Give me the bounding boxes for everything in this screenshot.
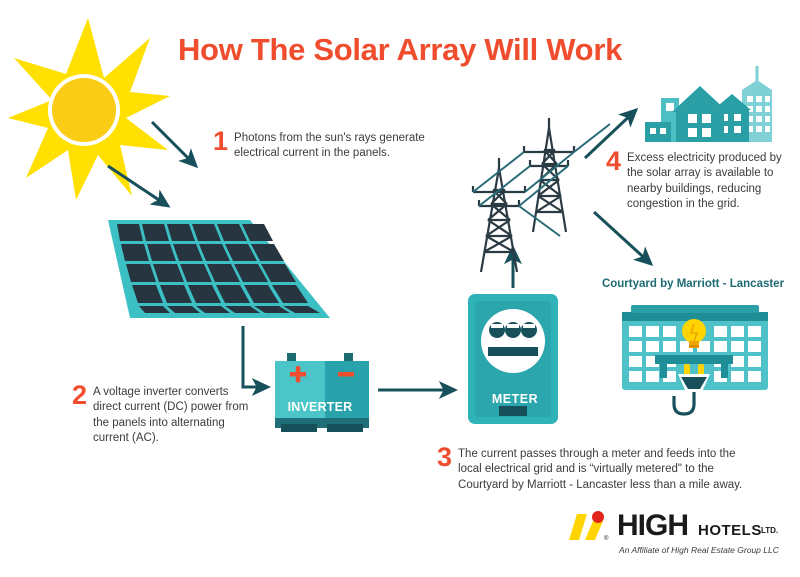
step-1-text: Photons from the sun's rays generate ele…: [234, 131, 428, 162]
arrow-sun-to-panel-2: [108, 166, 168, 206]
solar-panel-icon: [108, 220, 330, 318]
hotel-building-lightbulb-icon: [622, 305, 768, 414]
arrow-grid-to-hotel: [594, 212, 651, 264]
arrow-panel-to-inverter: [243, 326, 268, 387]
transmission-tower-icon: [473, 118, 610, 272]
infographic-canvas: How The Solar Array Will Work: [0, 0, 800, 577]
step-4-number: 4: [606, 148, 621, 175]
step-2-text: A voltage inverter converts direct curre…: [93, 385, 252, 446]
logo-ltd-text: LTD.: [761, 527, 778, 535]
meter-label: METER: [473, 392, 557, 406]
step-1: 1 Photons from the sun's rays generate e…: [213, 131, 428, 162]
step-4: 4 Excess electricity produced by the sol…: [606, 151, 786, 212]
high-hotels-logo-mark: ®: [565, 510, 615, 544]
inverter-label: INVERTER: [270, 400, 370, 414]
high-hotels-logo: ® HIGH HOTELS LTD. An Affiliate of High …: [565, 509, 785, 561]
city-buildings-icon: [645, 66, 772, 142]
sun-icon: [8, 18, 170, 200]
step-3-number: 3: [437, 444, 452, 471]
step-2: 2 A voltage inverter converts direct cur…: [72, 385, 252, 446]
step-4-text: Excess electricity produced by the solar…: [627, 151, 786, 212]
step-1-number: 1: [213, 128, 228, 155]
logo-hotels-text: HOTELS: [698, 523, 762, 538]
step-3-text: The current passes through a meter and f…: [458, 447, 757, 493]
inverter-battery-icon: [275, 353, 369, 432]
step-2-number: 2: [72, 382, 87, 409]
logo-tagline: An Affiliate of High Real Estate Group L…: [619, 545, 779, 555]
svg-text:®: ®: [604, 535, 609, 542]
courtyard-hotel-label: Courtyard by Marriott - Lancaster: [598, 277, 788, 292]
logo-wordmark: HIGH: [617, 511, 688, 541]
step-3: 3 The current passes through a meter and…: [437, 447, 757, 493]
